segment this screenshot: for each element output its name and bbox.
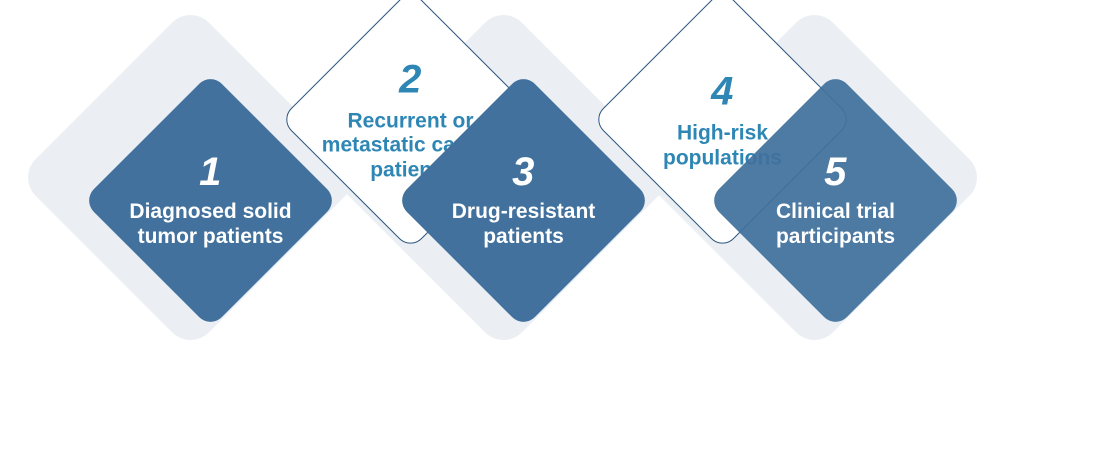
diamond-step-1-content: 1 Diagnosed solid tumor patients [120, 110, 301, 291]
diamond-step-1-number: 1 [199, 152, 222, 192]
diamond-step-3-label: Drug-resistant patients [433, 200, 615, 249]
diamond-step-3-content: 3 Drug-resistant patients [433, 110, 614, 291]
diamond-step-3-number: 3 [512, 152, 535, 192]
diamond-step-2-number: 2 [399, 59, 422, 99]
diamond-step-1-label: Diagnosed solid tumor patients [125, 200, 297, 249]
diamond-step-5-label: Clinical trial participants [748, 200, 923, 249]
diagram-canvas: 1 Diagnosed solid tumor patients 2 Recur… [0, 0, 1108, 451]
diamond-step-5-content: 5 Clinical trial participants [745, 110, 926, 291]
diamond-step-5-number: 5 [824, 152, 847, 192]
diamond-step-4-number: 4 [711, 71, 734, 111]
